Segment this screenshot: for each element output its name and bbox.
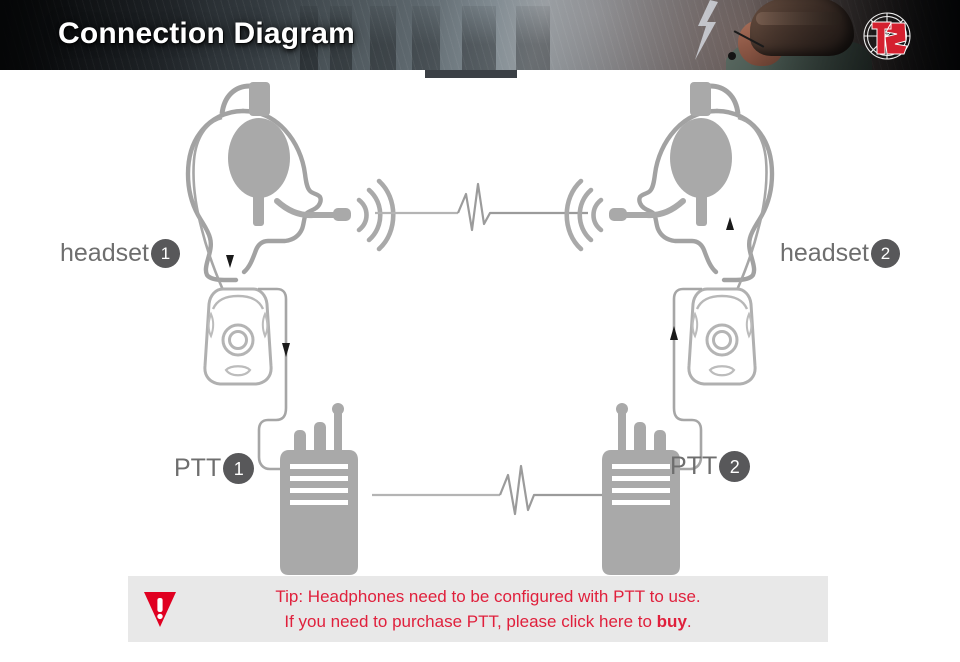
warning-triangle-icon <box>143 590 177 628</box>
label-headset-2-badge: 2 <box>871 239 900 268</box>
label-ptt-2-text: PTT <box>670 452 717 481</box>
right-headset-icon <box>567 82 772 280</box>
label-ptt-1-badge: 1 <box>223 453 254 484</box>
buy-link[interactable]: buy <box>657 612 687 631</box>
label-headset-1: headset 1 <box>60 239 180 268</box>
header-accent-bar <box>425 70 517 78</box>
right-walkie-talkie-icon <box>602 403 680 575</box>
label-ptt-1-text: PTT <box>174 454 221 483</box>
tip-line-2-before: If you need to purchase PTT, please clic… <box>284 612 656 631</box>
right-arrow-up-icon <box>726 217 734 230</box>
connection-diagram-page: Connection Diagram <box>0 0 960 662</box>
label-headset-2: headset 2 <box>780 239 900 268</box>
tip-line-2: If you need to purchase PTT, please clic… <box>192 609 784 634</box>
left-arrow-down-icon <box>226 255 234 268</box>
diagram-illustration <box>0 78 960 576</box>
label-ptt-2: PTT 2 <box>670 451 750 482</box>
left-ptt-icon <box>205 289 271 384</box>
label-headset-1-badge: 1 <box>151 239 180 268</box>
tip-line-1: Tip: Headphones need to be configured wi… <box>192 584 784 609</box>
ts-brand-logo-icon[interactable] <box>861 10 913 62</box>
page-header: Connection Diagram <box>0 0 960 70</box>
right-ptt-icon <box>689 289 755 384</box>
label-ptt-2-badge: 2 <box>719 451 750 482</box>
page-title: Connection Diagram <box>58 17 355 51</box>
right-arrow-up-icon-2 <box>670 326 678 340</box>
left-arrow-down-icon-2 <box>282 343 290 357</box>
left-walkie-talkie-icon <box>280 403 358 575</box>
tip-line-2-after: . <box>687 612 692 631</box>
label-headset-1-text: headset <box>60 239 149 268</box>
tip-icon-wrap <box>128 590 192 628</box>
left-headset-icon <box>188 82 393 280</box>
diagram-canvas: headset 1 headset 2 PTT 1 PTT 2 <box>0 78 960 576</box>
label-ptt-1: PTT 1 <box>174 453 254 484</box>
tip-text: Tip: Headphones need to be configured wi… <box>192 584 828 634</box>
label-headset-2-text: headset <box>780 239 869 268</box>
tip-banner: Tip: Headphones need to be configured wi… <box>128 576 828 642</box>
top-signal-waveform-icon <box>375 184 588 230</box>
